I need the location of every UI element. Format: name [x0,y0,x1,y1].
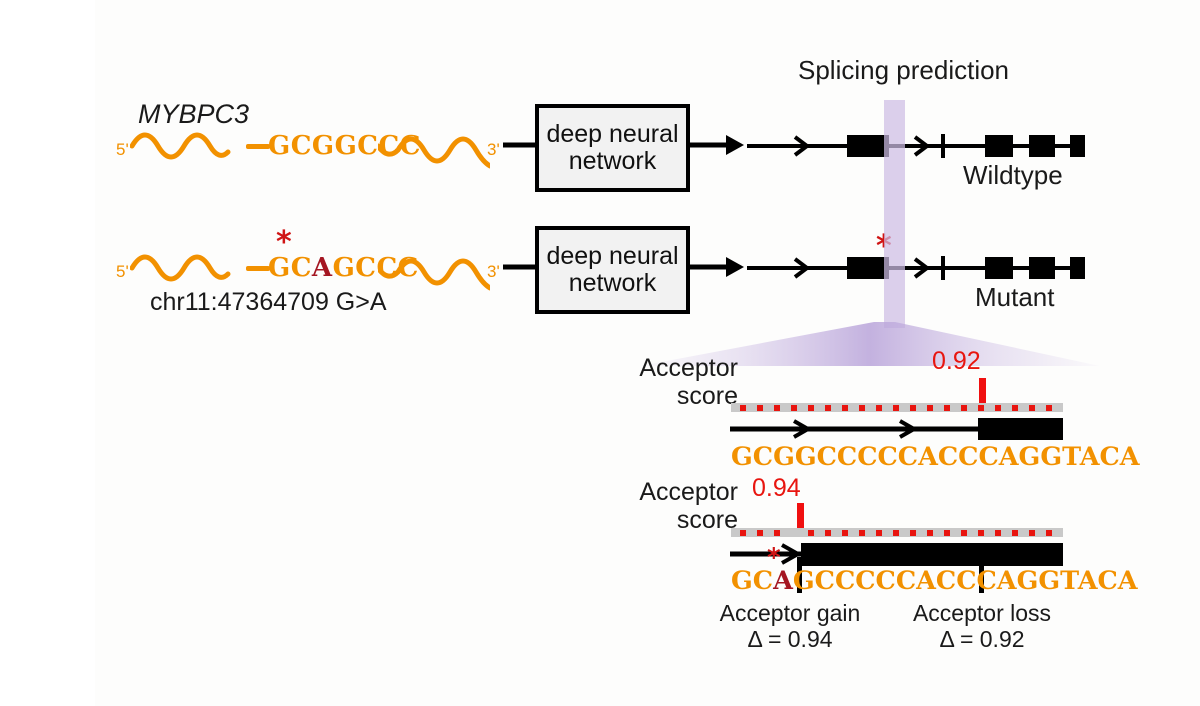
acceptor-score-value-mutant: 0.94 [752,474,801,503]
base-tick [927,405,933,411]
mutant-output-arrow-icon [690,254,746,280]
deep-neural-network-box-mutant: deep neural network [535,226,690,314]
mutant-track-label: Mutant [975,282,1055,313]
base-tick [774,530,780,536]
acceptor-score-label-wildtype: Acceptor score [578,354,738,410]
mutant-seq-variant-base: A [312,253,333,283]
base-tick [808,405,814,411]
base-tick [859,530,865,536]
mutant-detail-seq-prefix: GC [731,566,773,596]
mutant-detail-sequence: GCAGCCCCCACCCAGGTACA [731,566,1138,596]
base-tick [1029,530,1035,536]
deep-neural-network-box-wildtype: deep neural network [535,104,690,192]
acceptor-score-label-mutant: Acceptor score [578,478,738,534]
acceptor-score-baseline-mutant [731,527,1063,538]
base-tick [944,405,950,411]
base-tick [757,405,763,411]
base-tick [842,530,848,536]
acceptor-score-value-wildtype: 0.92 [932,347,981,376]
acceptor-gain-annotation-delta: Δ = 0.94 [690,626,890,652]
wildtype-rna-connector-left [246,144,270,149]
acceptor-score-label-wildtype-line1: Acceptor [578,354,738,382]
base-tick [978,405,984,411]
mutant-rna-wave-left [130,244,240,292]
mutant-seq-prefix: GC [268,253,312,283]
variant-coordinate-label: chr11:47364709 G>A [150,288,387,317]
base-tick [910,530,916,536]
wildtype-three-prime-label: 3' [487,140,500,160]
base-tick [1012,530,1018,536]
base-tick [757,530,763,536]
base-tick [944,530,950,536]
acceptor-score-label-mutant-line1: Acceptor [578,478,738,506]
base-tick [910,405,916,411]
wildtype-detail-sequence: GCGGCCCCCACCCAGGTACA [731,442,1140,472]
base-tick [808,530,814,536]
wildtype-rna-wave-right [378,122,490,170]
acceptor-score-baseline-wildtype [731,402,1063,413]
mutant-detail-seq-suffix: GCCCCCACCCAGGTACA [793,566,1138,596]
wildtype-rna-wave-left [130,122,240,170]
base-tick [859,405,865,411]
base-tick [1046,530,1052,536]
mutant-three-prime-label: 3' [487,262,500,282]
base-tick [825,405,831,411]
base-tick [893,405,899,411]
acceptor-gain-annotation-title: Acceptor gain [690,600,890,626]
base-tick [1012,405,1018,411]
base-tick [893,530,899,536]
wildtype-output-arrow-icon [690,132,746,158]
base-tick [774,405,780,411]
acceptor-gain-annotation: Acceptor gain Δ = 0.94 [690,600,890,652]
base-tick [995,405,1001,411]
base-tick [740,530,746,536]
base-tick [1029,405,1035,411]
mutant-rna-wave-right [378,244,490,292]
acceptor-score-label-wildtype-line2: score [578,382,738,410]
wildtype-track-label: Wildtype [963,160,1063,191]
mutant-detail-seq-variant-base: A [773,566,793,596]
base-tick [876,405,882,411]
figure-title: Splicing prediction [798,55,1009,86]
base-tick [927,530,933,536]
base-tick [1046,405,1052,411]
acceptor-score-label-mutant-line2: score [578,506,738,534]
wildtype-detail-transcript [728,416,1068,442]
base-tick [791,405,797,411]
acceptor-loss-annotation-title: Acceptor loss [882,600,1082,626]
mutant-five-prime-label: 5' [116,262,129,282]
mutant-rna-connector-left [246,266,270,271]
base-tick [995,530,1001,536]
base-tick [842,405,848,411]
base-tick [961,405,967,411]
acceptor-loss-annotation: Acceptor loss Δ = 0.92 [882,600,1082,652]
base-tick [961,530,967,536]
highlight-band [884,100,905,328]
base-tick [740,405,746,411]
base-tick [978,530,984,536]
splicing-prediction-figure: Splicing prediction MYBPC3 5' GCGGCCC 3'… [0,0,1200,706]
acceptor-loss-annotation-delta: Δ = 0.92 [882,626,1082,652]
base-tick [876,530,882,536]
wildtype-five-prime-label: 5' [116,140,129,160]
base-tick [825,530,831,536]
